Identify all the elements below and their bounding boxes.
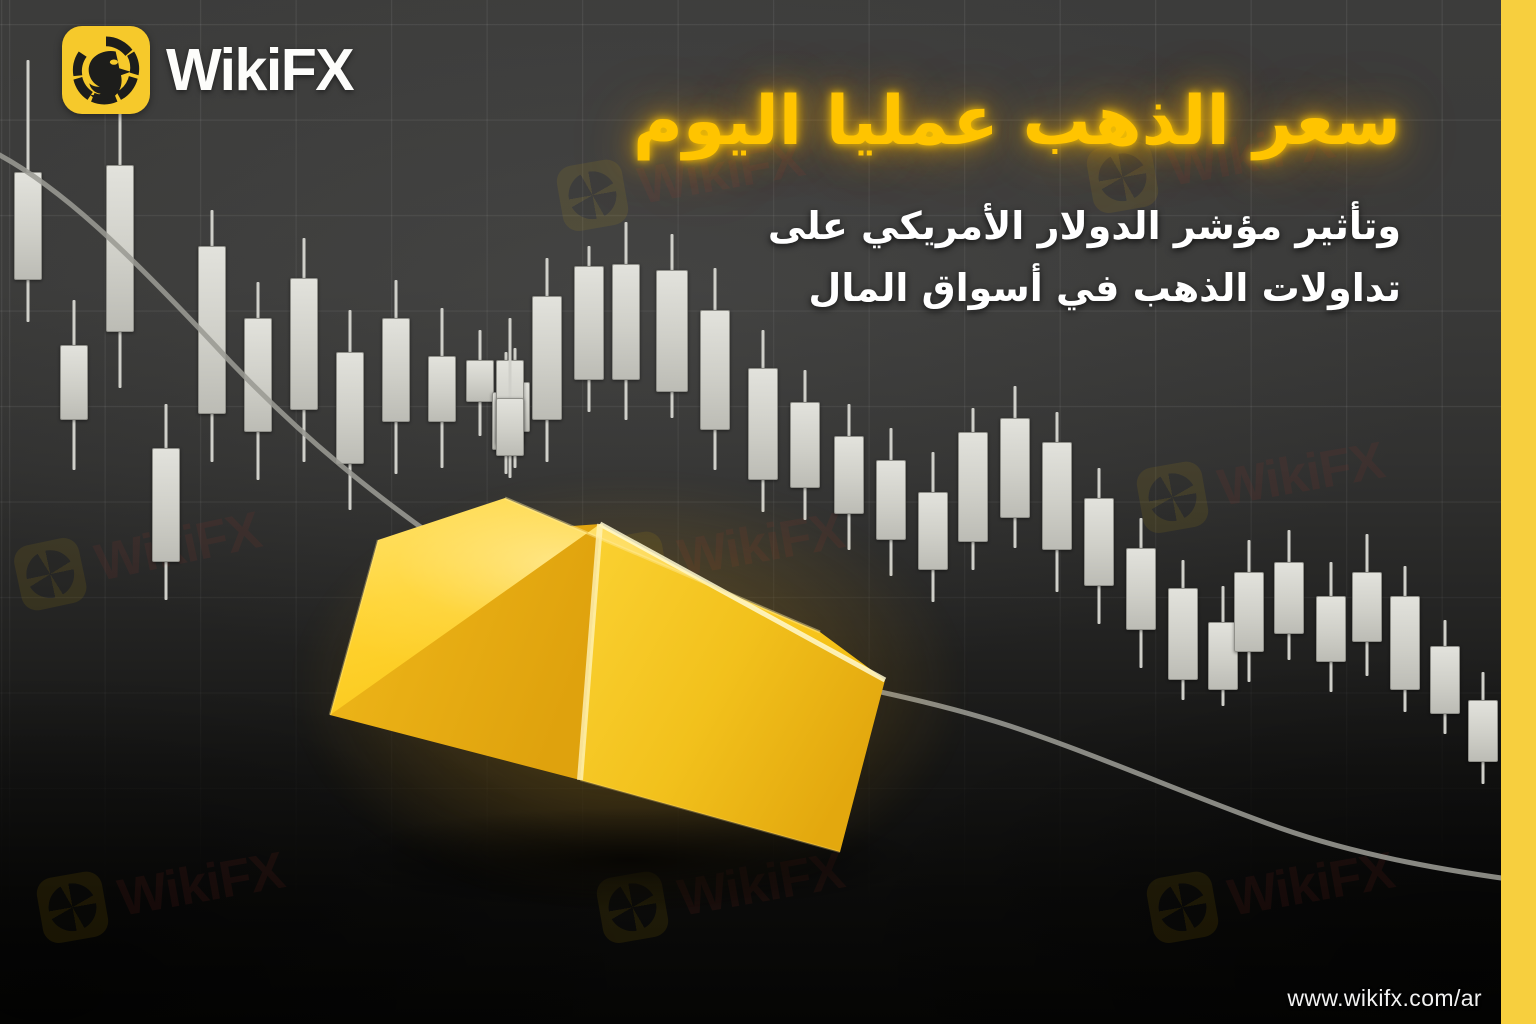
gold-bar: [300, 480, 960, 910]
wikifx-logo[interactable]: WikiFX: [62, 26, 353, 114]
page-title: سعر الذهب عمليا اليوم: [761, 82, 1401, 162]
headline-block: سعر الذهب عمليا اليوم وتأثير مؤشر الدولا…: [761, 82, 1401, 319]
wikifx-eagle-logo-icon: [62, 26, 150, 114]
subtitle-line-2: تداولات الذهب في أسواق المال: [761, 258, 1401, 320]
accent-strip: [1501, 0, 1536, 1024]
subtitle-line-1: وتأثير مؤشر الدولار الأمريكي على: [761, 196, 1401, 258]
wikifx-wordmark: WikiFX: [166, 41, 353, 100]
banner-canvas: WikiFXWikiFXWikiFXWikiFXWikiFXWikiFXWiki…: [0, 0, 1536, 1024]
footer-url[interactable]: www.wikifx.com/ar: [1287, 985, 1482, 1012]
